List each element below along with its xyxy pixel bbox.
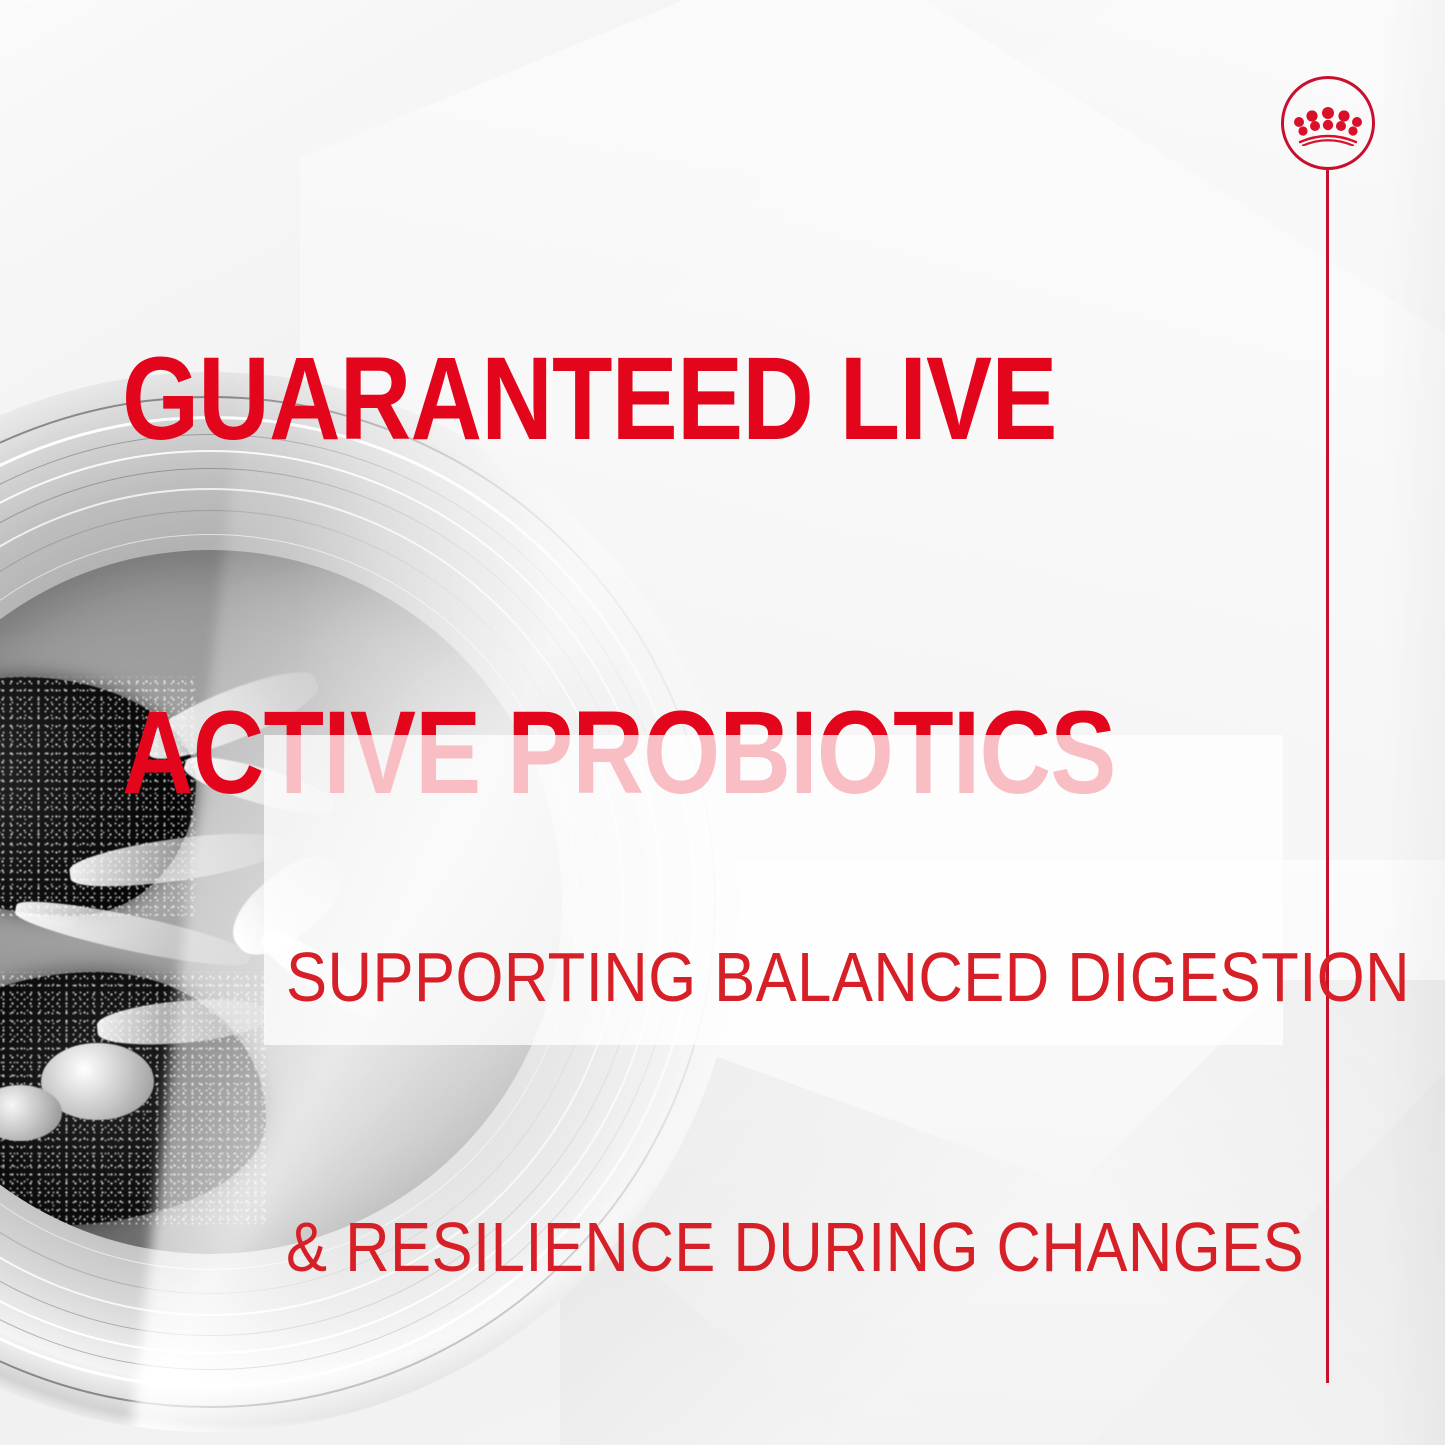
- body-copy-line-1: SUPPORTING BALANCED DIGESTION: [286, 932, 1175, 1022]
- headline-line-1: GUARANTEED LIVE: [122, 340, 1063, 458]
- logo-connector-line: [1326, 170, 1329, 1383]
- marketing-graphic: GUARANTEED LIVE ACTIVE PROBIOTICS SUPPOR…: [0, 0, 1445, 1445]
- brand-logo: [1281, 76, 1375, 170]
- body-copy-line-2: & RESILIENCE DURING CHANGES: [286, 1202, 1175, 1292]
- royal-canin-crown-icon: [1294, 106, 1362, 146]
- body-copy: SUPPORTING BALANCED DIGESTION & RESILIEN…: [286, 752, 1175, 1445]
